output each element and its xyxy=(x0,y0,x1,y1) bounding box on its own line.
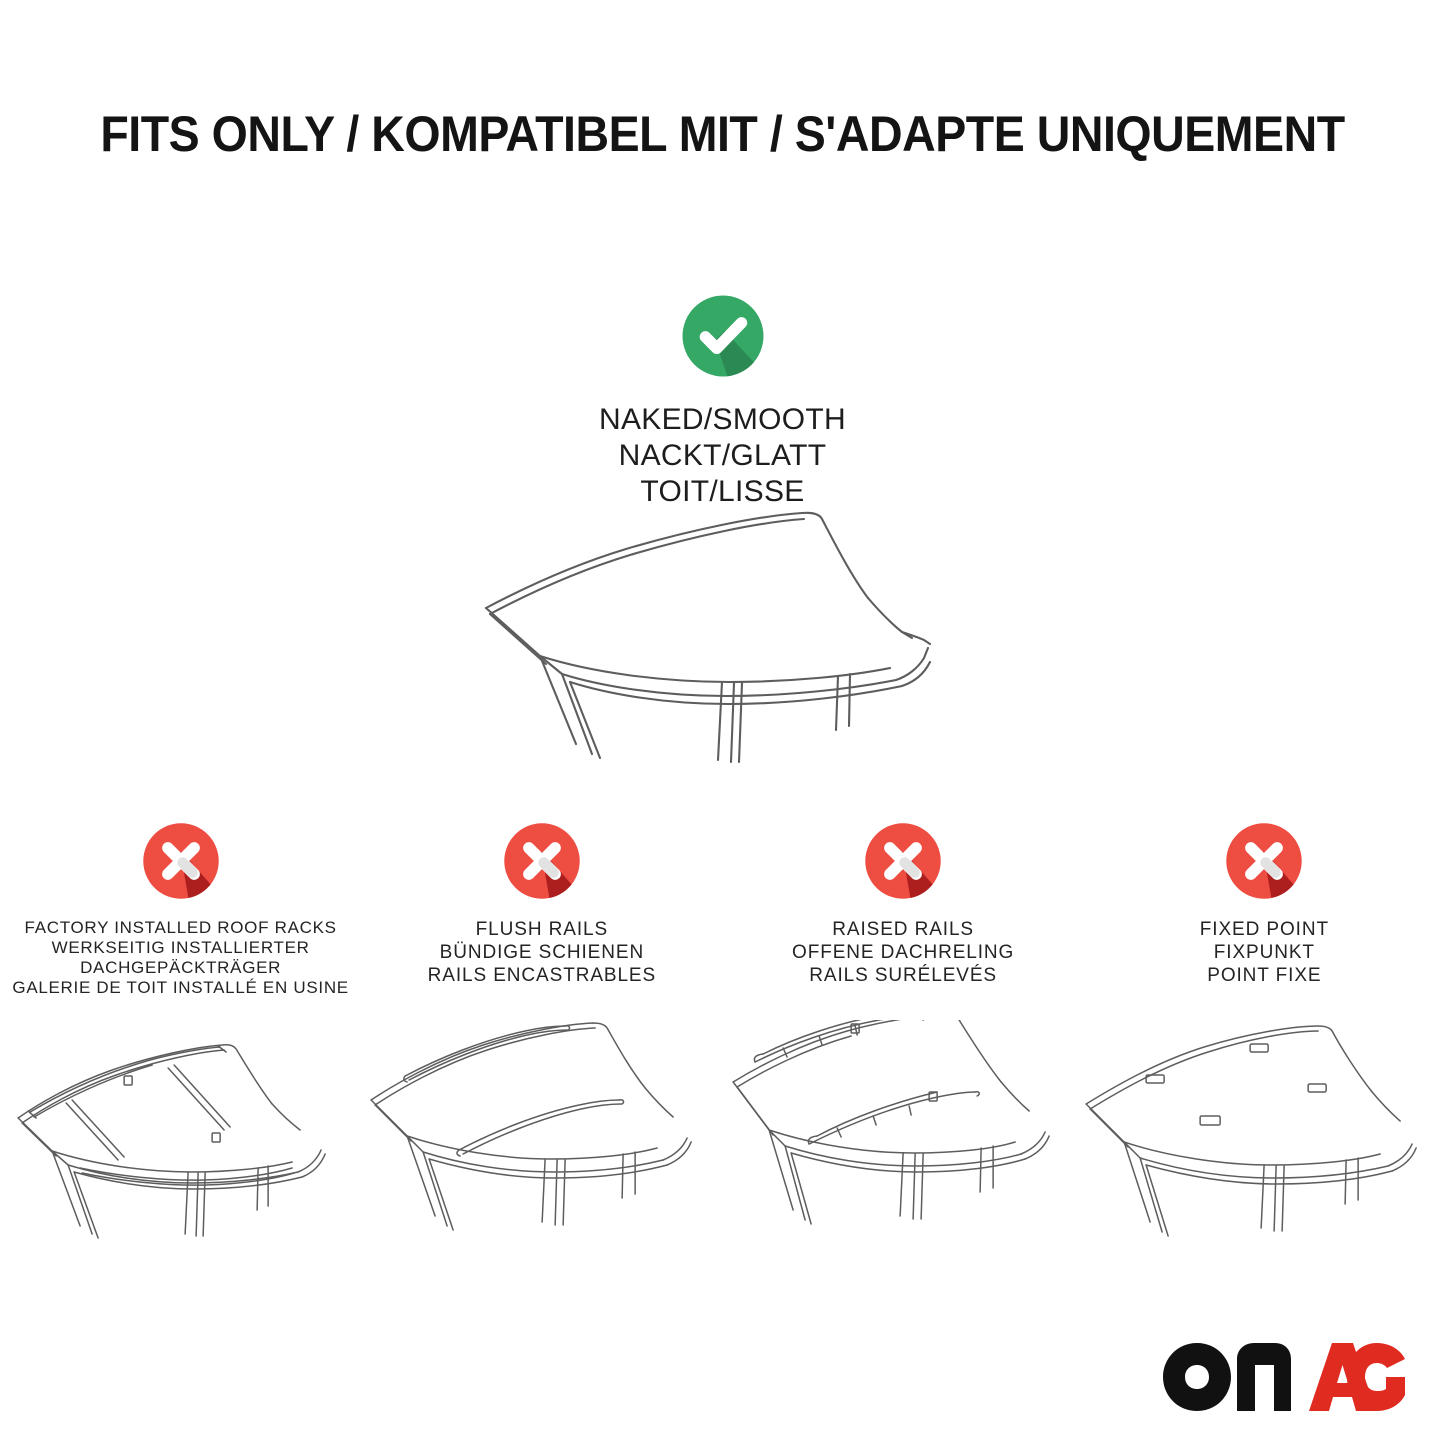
cross-circle-icon xyxy=(140,820,222,902)
cross-circle-icon xyxy=(1223,820,1305,902)
incompatible-label-de-2: DACHGEPÄCKTRÄGER xyxy=(12,958,348,978)
incompatible-illustrations xyxy=(0,1020,1445,1250)
incompatible-label-fr: GALERIE DE TOIT INSTALLÉ EN USINE xyxy=(12,978,348,998)
car-roof-factory-rack-illustration xyxy=(0,1020,361,1250)
incompatible-label-en: FACTORY INSTALLED ROOF RACKS xyxy=(12,918,348,938)
check-circle-icon xyxy=(679,292,767,380)
incompatible-label-de-1: OFFENE DACHRELING xyxy=(792,941,1014,964)
page-title: FITS ONLY / KOMPATIBEL MIT / S'ADAPTE UN… xyxy=(51,105,1395,163)
incompatible-item-factory-rack: FACTORY INSTALLED ROOF RACKS WERKSEITIG … xyxy=(0,820,361,998)
incompatible-label-fr: RAILS SURÉLEVÉS xyxy=(792,964,1014,987)
incompatible-label-en: RAISED RAILS xyxy=(792,918,1014,941)
compatible-label-en: NAKED/SMOOTH xyxy=(599,402,846,438)
incompatible-section: FACTORY INSTALLED ROOF RACKS WERKSEITIG … xyxy=(0,820,1445,998)
car-roof-raised-rails-illustration xyxy=(723,1020,1084,1250)
incompatible-item-flush-rails: FLUSH RAILS BÜNDIGE SCHIENEN RAILS ENCAS… xyxy=(361,820,722,998)
incompatible-label-fr: RAILS ENCASTRABLES xyxy=(428,964,656,987)
car-roof-flush-rails-illustration xyxy=(361,1020,722,1250)
incompatible-labels: FLUSH RAILS BÜNDIGE SCHIENEN RAILS ENCAS… xyxy=(428,918,656,987)
incompatible-label-fr: POINT FIXE xyxy=(1200,964,1329,987)
car-roof-fixed-point-illustration xyxy=(1084,1020,1445,1250)
incompatible-label-de-1: FIXPUNKT xyxy=(1200,941,1329,964)
incompatible-item-fixed-point: FIXED POINT FIXPUNKT POINT FIXE xyxy=(1084,820,1445,998)
incompatible-item-raised-rails: RAISED RAILS OFFENE DACHRELING RAILS SUR… xyxy=(723,820,1084,998)
incompatible-labels: RAISED RAILS OFFENE DACHRELING RAILS SUR… xyxy=(792,918,1014,987)
incompatible-label-de-1: WERKSEITIG INSTALLIERTER xyxy=(12,938,348,958)
compatible-section: NAKED/SMOOTH NACKT/GLATT TOIT/LISSE xyxy=(0,292,1445,510)
cross-circle-icon xyxy=(862,820,944,902)
incompatible-label-en: FIXED POINT xyxy=(1200,918,1329,941)
incompatible-label-de-1: BÜNDIGE SCHIENEN xyxy=(428,941,656,964)
incompatible-label-en: FLUSH RAILS xyxy=(428,918,656,941)
cross-circle-icon xyxy=(501,820,583,902)
compatible-label-de: NACKT/GLATT xyxy=(599,438,846,474)
car-roof-naked-smooth-illustration xyxy=(450,486,1020,766)
omac-logo xyxy=(1157,1337,1407,1417)
incompatible-labels: FIXED POINT FIXPUNKT POINT FIXE xyxy=(1200,918,1329,987)
incompatible-labels: FACTORY INSTALLED ROOF RACKS WERKSEITIG … xyxy=(12,918,348,998)
